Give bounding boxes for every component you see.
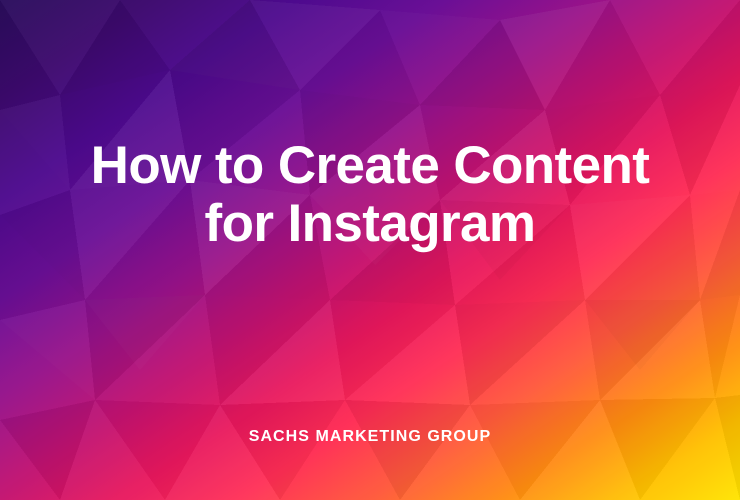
headline-line-2: for Instagram	[0, 195, 740, 253]
headline-line-1: How to Create Content	[0, 137, 740, 195]
brand-name: SACHS MARKETING GROUP	[0, 427, 740, 447]
banner-content: How to Create Contentfor Instagram SACHS…	[0, 0, 740, 500]
instagram-content-banner: How to Create Contentfor Instagram SACHS…	[0, 0, 740, 500]
page-title: How to Create Contentfor Instagram	[0, 137, 740, 253]
